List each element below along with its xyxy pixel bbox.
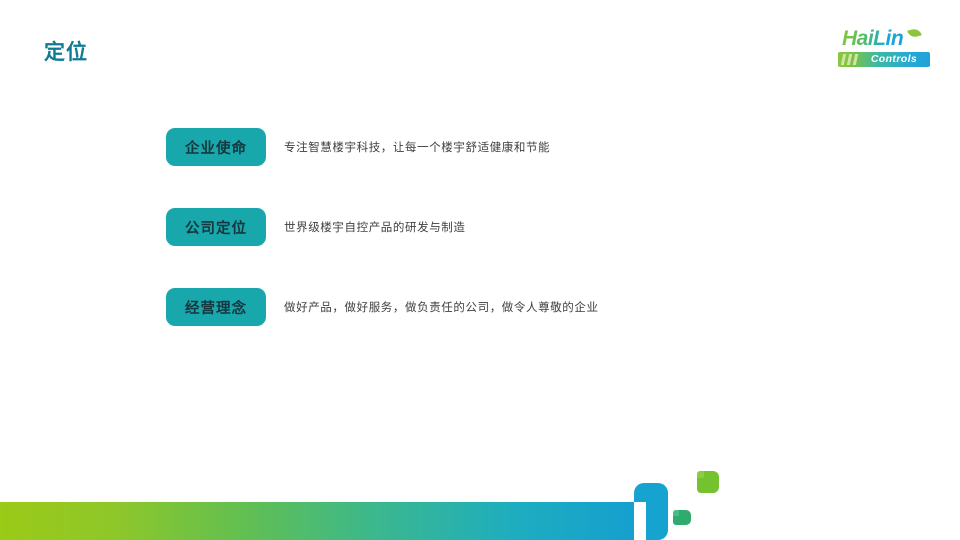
content-row: 企业使命 专注智慧楼宇科技，让每一个楼宇舒适健康和节能 [166,128,866,168]
decoration-green-square-large [697,471,719,493]
content-rows: 企业使命 专注智慧楼宇科技，让每一个楼宇舒适健康和节能 公司定位 世界级楼宇自控… [166,128,866,328]
row-text-positioning: 世界级楼宇自控产品的研发与制造 [284,221,466,235]
logo-wordmark: HaiLin [842,28,903,50]
logo-tick-icon [847,54,852,65]
logo-tick-icon [853,54,858,65]
content-row: 经营理念 做好产品，做好服务，做负责任的公司，做令人尊敬的企业 [166,288,866,328]
logo-tick-icon [841,54,846,65]
logo-subtitle: Controls [860,53,928,66]
footer-gradient-bar [0,502,641,540]
leaf-icon [907,28,922,39]
row-text-philosophy: 做好产品，做好服务，做负责任的公司，做令人尊敬的企业 [284,301,599,315]
slide-root: 定位 HaiLin Controls 企业使命 专注智慧楼宇科技，让每一个楼宇舒… [0,0,960,540]
row-text-mission: 专注智慧楼宇科技，让每一个楼宇舒适健康和节能 [284,141,550,155]
page-title: 定位 [44,42,88,63]
content-row: 公司定位 世界级楼宇自控产品的研发与制造 [166,208,866,248]
badge-philosophy: 经营理念 [166,288,266,326]
decoration-notch [634,502,646,540]
badge-positioning: 公司定位 [166,208,266,246]
brand-logo: HaiLin Controls [836,28,932,72]
decoration-green-square-small [673,510,691,525]
badge-mission: 企业使命 [166,128,266,166]
